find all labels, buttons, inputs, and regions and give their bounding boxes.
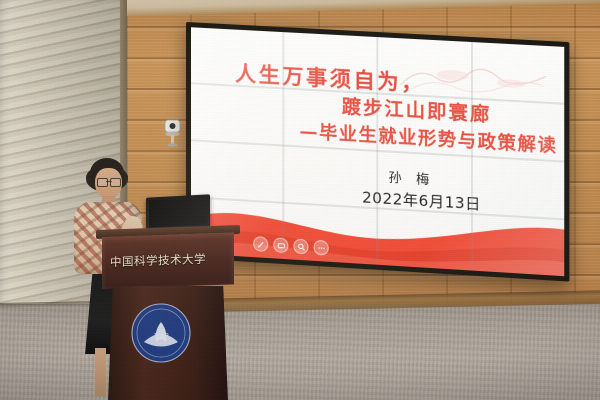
led-video-wall[interactable]: 人生万事须自为， 踱步江山即寰廊 —毕业生就业形势与政策解读 孙 梅 2022年… [186,22,569,282]
wall-mounted-security-camera [160,118,186,148]
lens-right [110,178,121,187]
svg-text:1958: 1958 [153,333,169,340]
video-wall-vertical-seams [191,27,564,276]
ustc-emblem: 1958 [130,302,192,364]
lecture-hall-scene: 人生万事须自为， 踱步江山即寰廊 —毕业生就业形势与政策解读 孙 梅 2022年… [0,0,600,400]
laptop-screen [149,197,207,227]
lens-left [97,178,108,187]
lectern-podium: 中国科学技术大学 1958 [96,230,240,400]
eyeglasses [97,178,121,185]
presentation-slide[interactable]: 人生万事须自为， 踱步江山即寰廊 —毕业生就业形势与政策解读 孙 梅 2022年… [191,27,564,276]
